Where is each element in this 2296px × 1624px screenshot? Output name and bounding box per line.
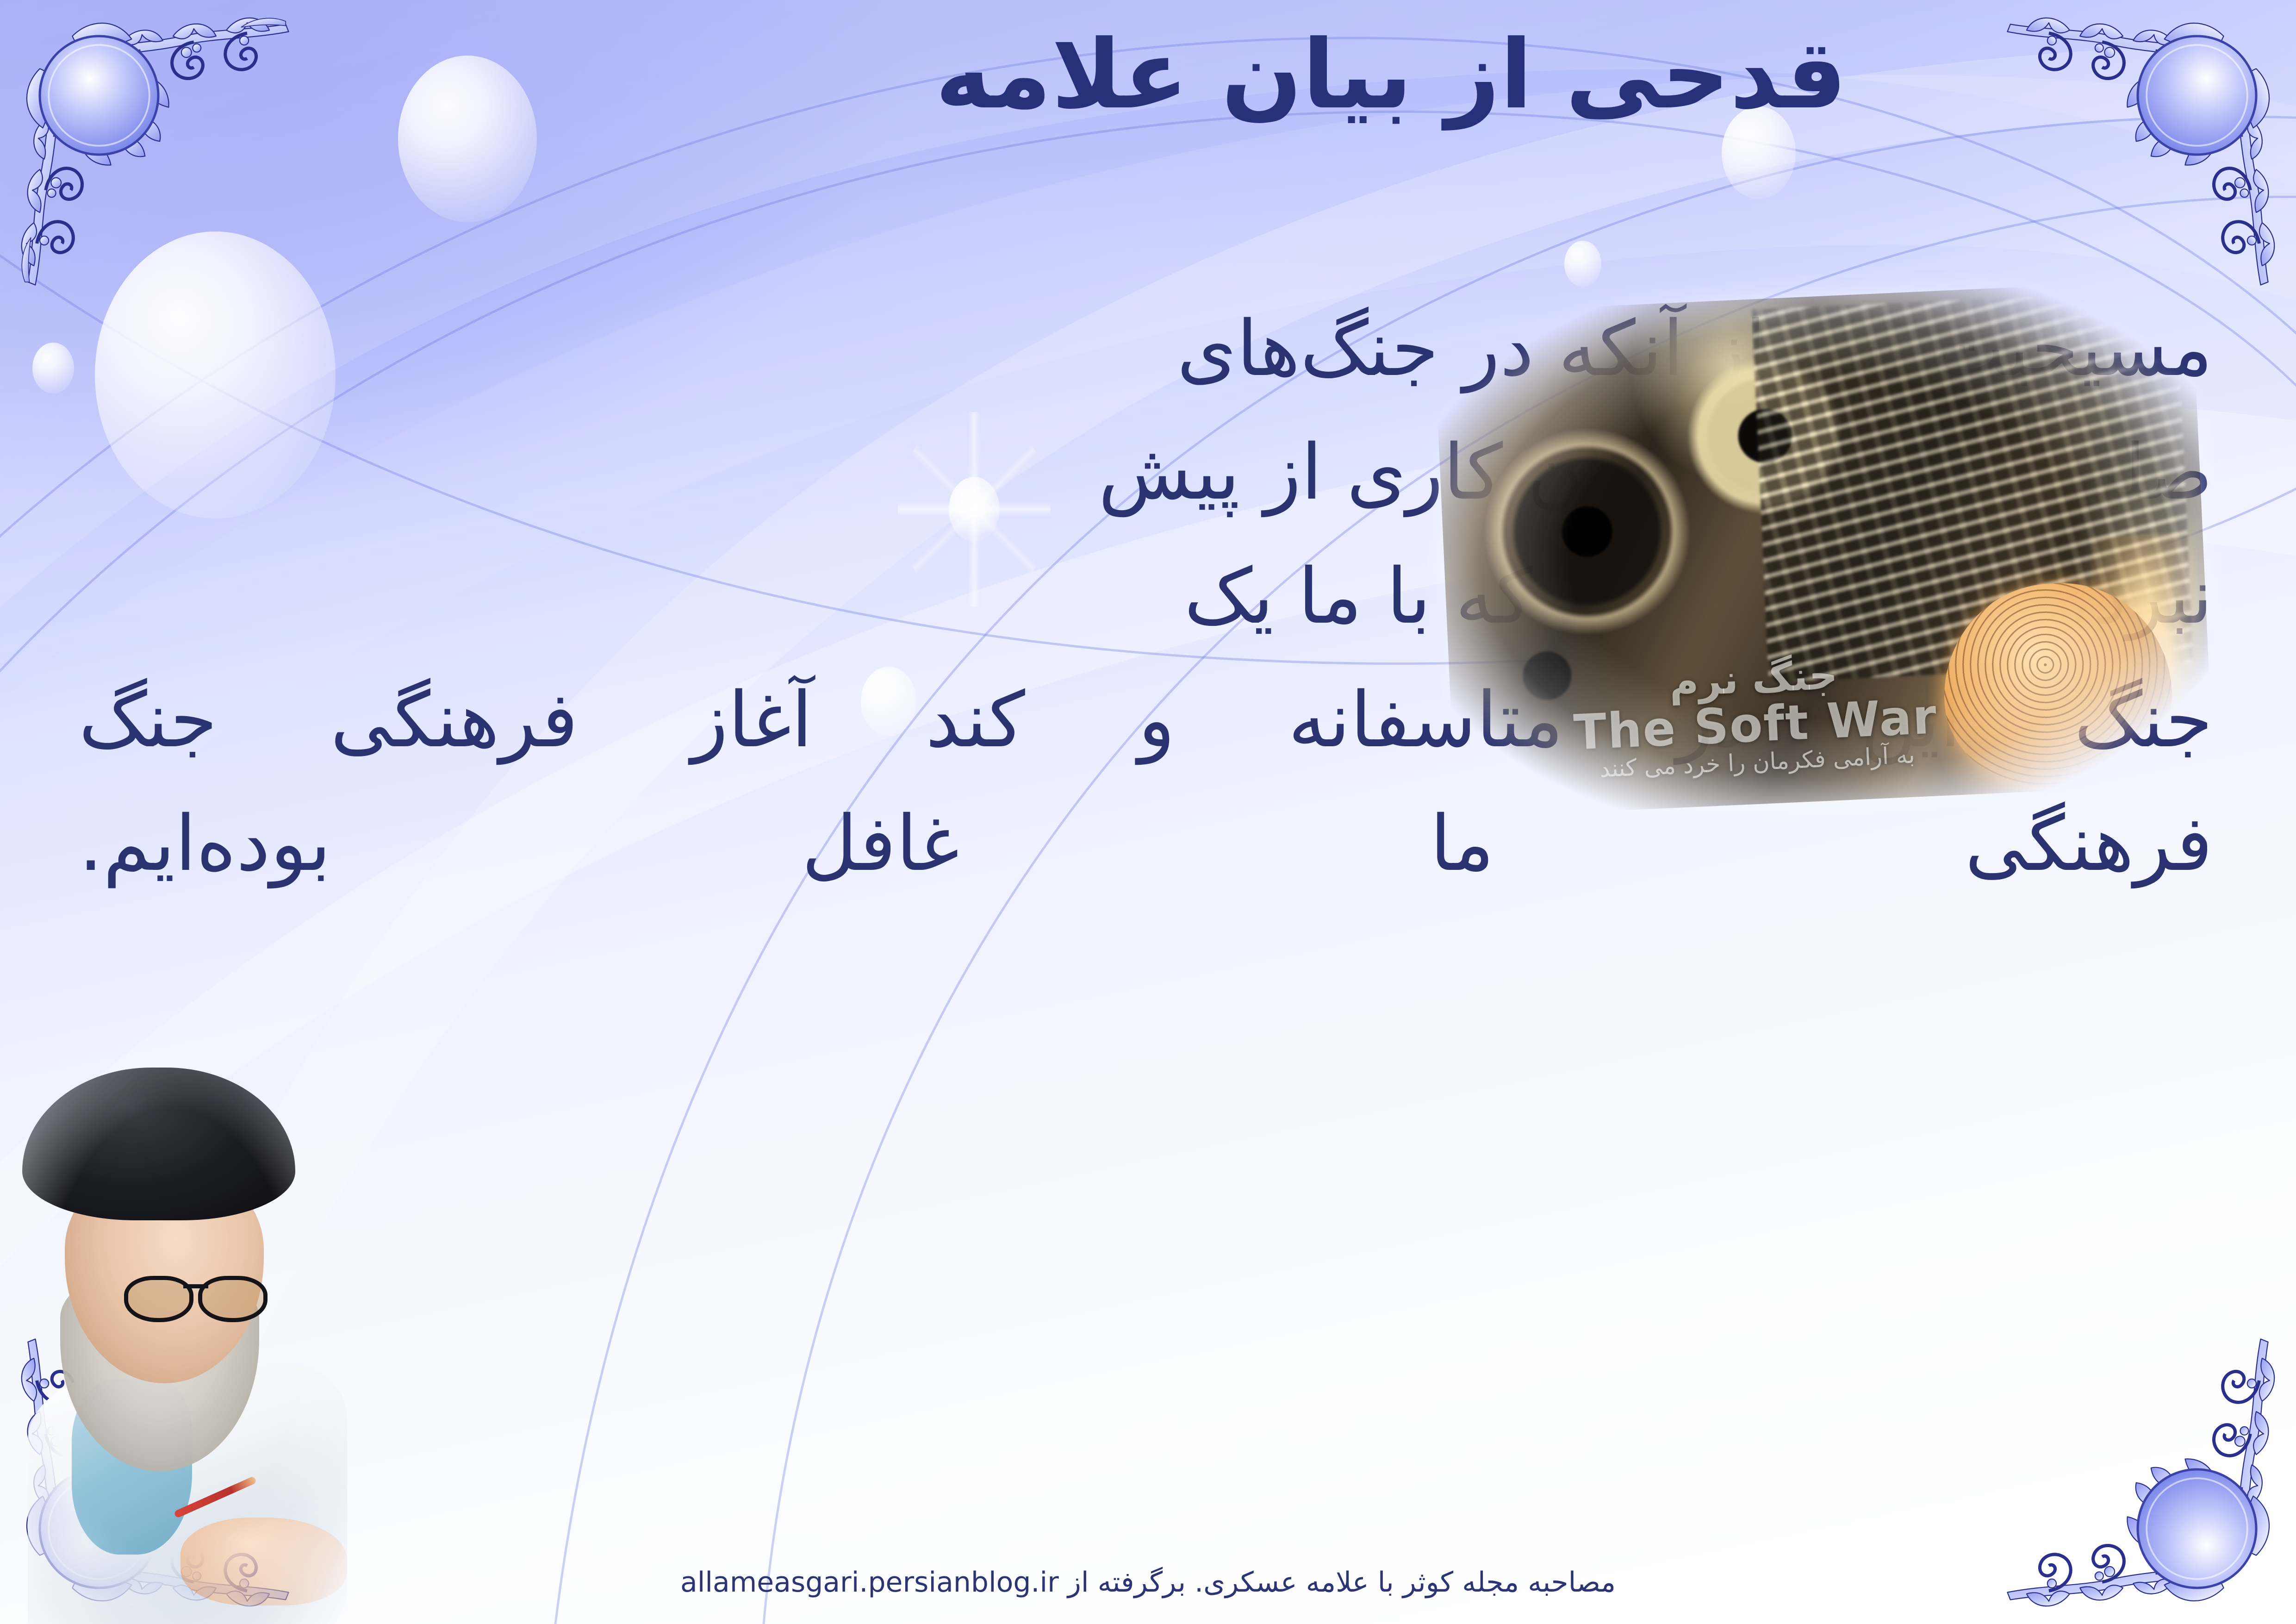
glasses-left-lens — [124, 1276, 193, 1322]
corner-ornament-top-left — [0, 0, 292, 288]
quote-line-4-w1: جنگ — [79, 658, 217, 782]
scholar-photo — [0, 1013, 347, 1624]
page-title: قدحی از بیان علامه — [555, 22, 2227, 129]
glasses-right-lens — [198, 1276, 268, 1322]
glasses-icon — [124, 1272, 268, 1317]
quote-line-5: فرهنگی ما غافل بوده‌ایم. — [79, 782, 2213, 906]
soft-war-photo-frame: جنگ نرم The Soft War به آرامی فکرمان را … — [1433, 279, 2214, 818]
glasses-bridge — [183, 1284, 208, 1288]
quote-line-4-w3: آغاز — [691, 658, 813, 782]
quote-line-4-w2: فرهنگی — [330, 658, 578, 782]
source-url[interactable]: allameasgari.persianblog.ir — [680, 1566, 1059, 1599]
bubble-tiny-right — [1564, 241, 1601, 287]
bubble-tiny-left — [32, 343, 74, 394]
quote-line-4-w4: کند — [926, 658, 1025, 782]
footer-credit-text: مصاحبه مجله کوثر با علامه عسکری. برگرفته… — [1068, 1566, 1616, 1599]
quote-line-4-w5: و — [1138, 658, 1175, 782]
quote-line-5-text: فرهنگی ما غافل بوده‌ایم. — [79, 799, 2213, 888]
bubble-medium-top — [398, 56, 537, 222]
footer-credit: مصاحبه مجله کوثر با علامه عسکری. برگرفته… — [0, 1566, 2296, 1599]
soft-war-photo: جنگ نرم The Soft War به آرامی فکرمان را … — [1433, 279, 2214, 818]
scholar-turban — [22, 1068, 295, 1220]
poster-canvas: قدحی از بیان علامه مسیحیت پس از آنکه در … — [0, 0, 2296, 1624]
